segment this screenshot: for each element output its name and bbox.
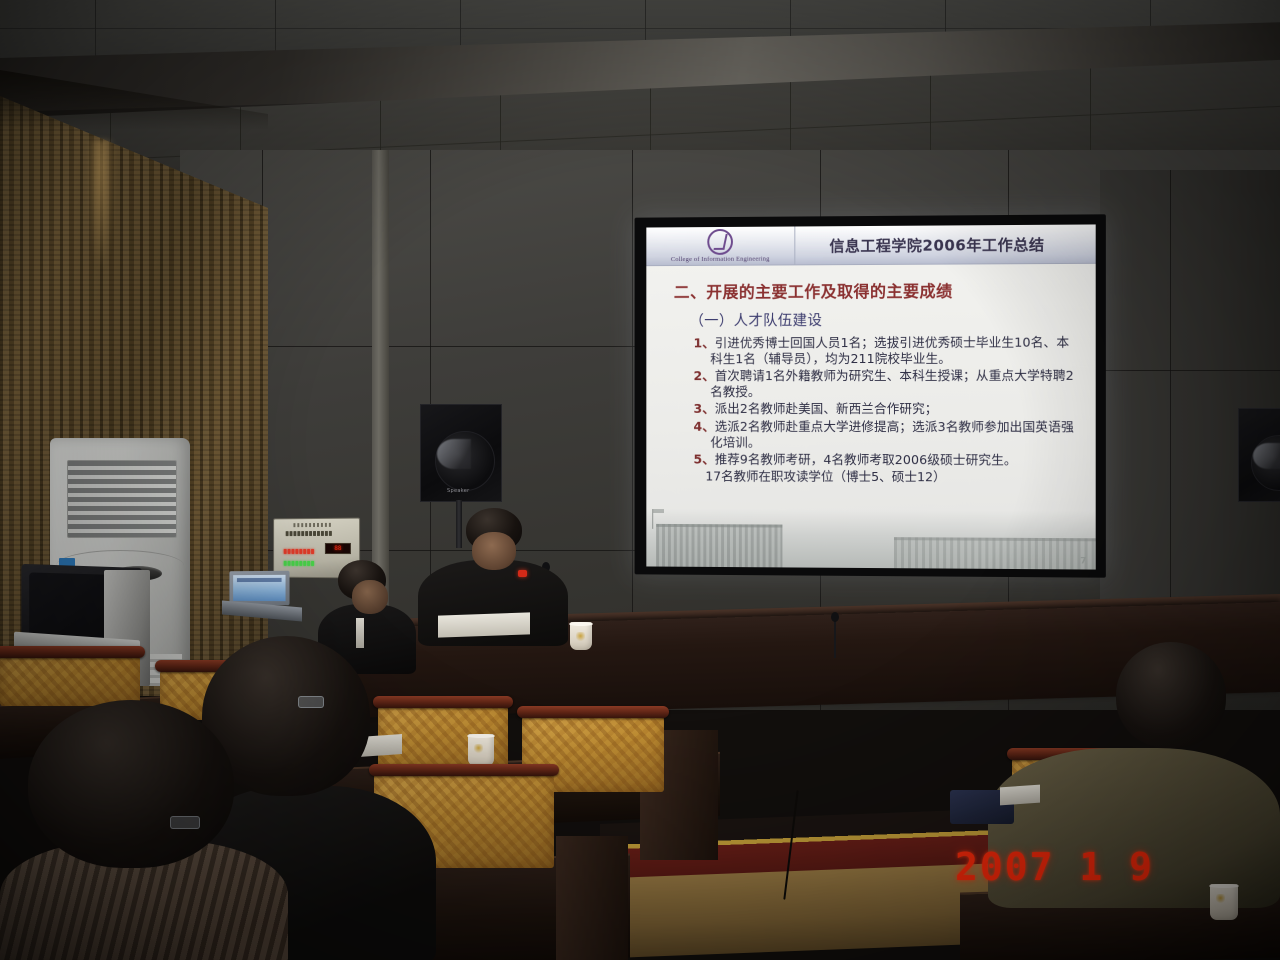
presenter-face xyxy=(472,532,516,570)
control-panel-led-row xyxy=(286,531,332,536)
control-panel-led-row xyxy=(284,561,314,566)
slide-item-number: 4、 xyxy=(693,418,714,433)
presenter xyxy=(418,508,568,638)
slide-list-item: 5、推荐9名教师考研，4名教师考取2006级硕士研究生。 xyxy=(693,451,1077,468)
slide-bullet-list: 1、引进优秀博士回国人员1名；选拔引进优秀硕士毕业生10名、本科生1名（辅导员）… xyxy=(660,334,1081,468)
college-emblem-icon xyxy=(707,229,733,255)
slide-list-item: 4、选派2名教师赴重点大学进修提高；选派3名教师参加出国英语强化培训。 xyxy=(693,418,1077,451)
slide-item-number: 5、 xyxy=(693,451,714,466)
slide-item-text: 首次聘请1名外籍教师为研究生、本科生授课；从重点大学特聘2名教授。 xyxy=(710,368,1074,399)
projection-screen: College of Information Engineering 信息工程学… xyxy=(635,214,1106,577)
wall-speaker-right xyxy=(1238,408,1280,502)
slide-item-text: 引进优秀博士回国人员1名；选拔引进优秀硕士毕业生10名、本科生1名（辅导员），均… xyxy=(710,335,1069,367)
camera-datestamp: 2007 1 9 xyxy=(955,845,1154,889)
eyeglasses-icon xyxy=(170,816,200,829)
slide-page-number: 7 xyxy=(1080,556,1086,566)
laptop-lid xyxy=(229,571,289,606)
laptop-screen xyxy=(233,575,285,601)
slide-item-number: 3、 xyxy=(693,401,714,416)
paper-cup xyxy=(468,734,494,766)
slide-item-text: 派出2名教师赴美国、新西兰合作研究； xyxy=(715,401,938,416)
slide-heading-2: （一）人才队伍建设 xyxy=(690,308,1082,330)
attendee-face xyxy=(352,580,388,614)
watermark-flag-icon xyxy=(652,509,653,529)
attendee-foreground-left xyxy=(0,700,300,960)
slide-list-item: 1、引进优秀博士回国人员1名；选拔引进优秀硕士毕业生10名、本科生1名（辅导员）… xyxy=(693,334,1077,367)
slide-logo: College of Information Engineering xyxy=(646,226,795,265)
control-panel-title-strip xyxy=(293,523,332,527)
air-conditioner-grille xyxy=(67,460,177,538)
control-panel-led-row xyxy=(284,549,314,554)
paper-cup xyxy=(570,622,592,650)
slide-list-item: 2、首次聘请1名外籍教师为研究生、本科生授课；从重点大学特聘2名教授。 xyxy=(693,368,1077,400)
slide-trailing-line: 17名教师在职攻读学位（博士5、硕士12） xyxy=(705,468,1081,486)
audience-chair xyxy=(0,654,140,706)
slide-logo-text: College of Information Engineering xyxy=(671,256,770,264)
attendee-hair xyxy=(28,700,234,868)
wall-speaker-left: Speaker xyxy=(420,404,502,502)
watermark-building-right xyxy=(894,537,1096,569)
slide-header: College of Information Engineering 信息工程学… xyxy=(646,224,1095,266)
eyeglasses-icon xyxy=(298,696,324,708)
slide-item-number: 1、 xyxy=(693,335,714,350)
cup-logo-icon xyxy=(1216,894,1225,904)
presenter-papers xyxy=(438,612,530,637)
slide-heading-1: 二、开展的主要工作及取得的主要成绩 xyxy=(674,277,1082,303)
slide-item-number: 2、 xyxy=(693,368,714,383)
slide-watermark xyxy=(646,509,1095,570)
cup-logo-icon xyxy=(576,632,585,642)
microphone-table xyxy=(834,618,836,658)
speaker-brand-label: Speaker xyxy=(447,488,469,494)
slide-item-text: 选派2名教师赴重点大学进修提高；选派3名教师参加出国英语强化培训。 xyxy=(710,418,1074,449)
attendee-papers xyxy=(1000,785,1040,806)
cup-logo-icon xyxy=(474,744,483,754)
presenter-badge-pin xyxy=(518,570,527,577)
slide-surface: College of Information Engineering 信息工程学… xyxy=(646,224,1095,569)
slide-list-item: 3、派出2名教师赴美国、新西兰合作研究； xyxy=(693,401,1077,417)
paper-cup xyxy=(1210,884,1238,920)
attendee-hair xyxy=(1116,642,1226,748)
conference-room-photo: Speaker College of Information Engineeri… xyxy=(0,0,1280,960)
slide-item-text: 推荐9名教师考研，4名教师考取2006级硕士研究生。 xyxy=(715,451,1017,467)
wall-metal-column xyxy=(372,150,389,620)
bench-side-panel xyxy=(556,836,628,960)
slide-header-title: 信息工程学院2006年工作总结 xyxy=(795,233,1095,256)
watermark-building-left xyxy=(656,524,782,568)
slide-body: 二、开展的主要工作及取得的主要成绩 （一）人才队伍建设 1、引进优秀博士回国人员… xyxy=(646,264,1095,486)
control-panel-lcd-display: 88 xyxy=(325,543,351,554)
curtain-light-glow xyxy=(88,140,114,270)
